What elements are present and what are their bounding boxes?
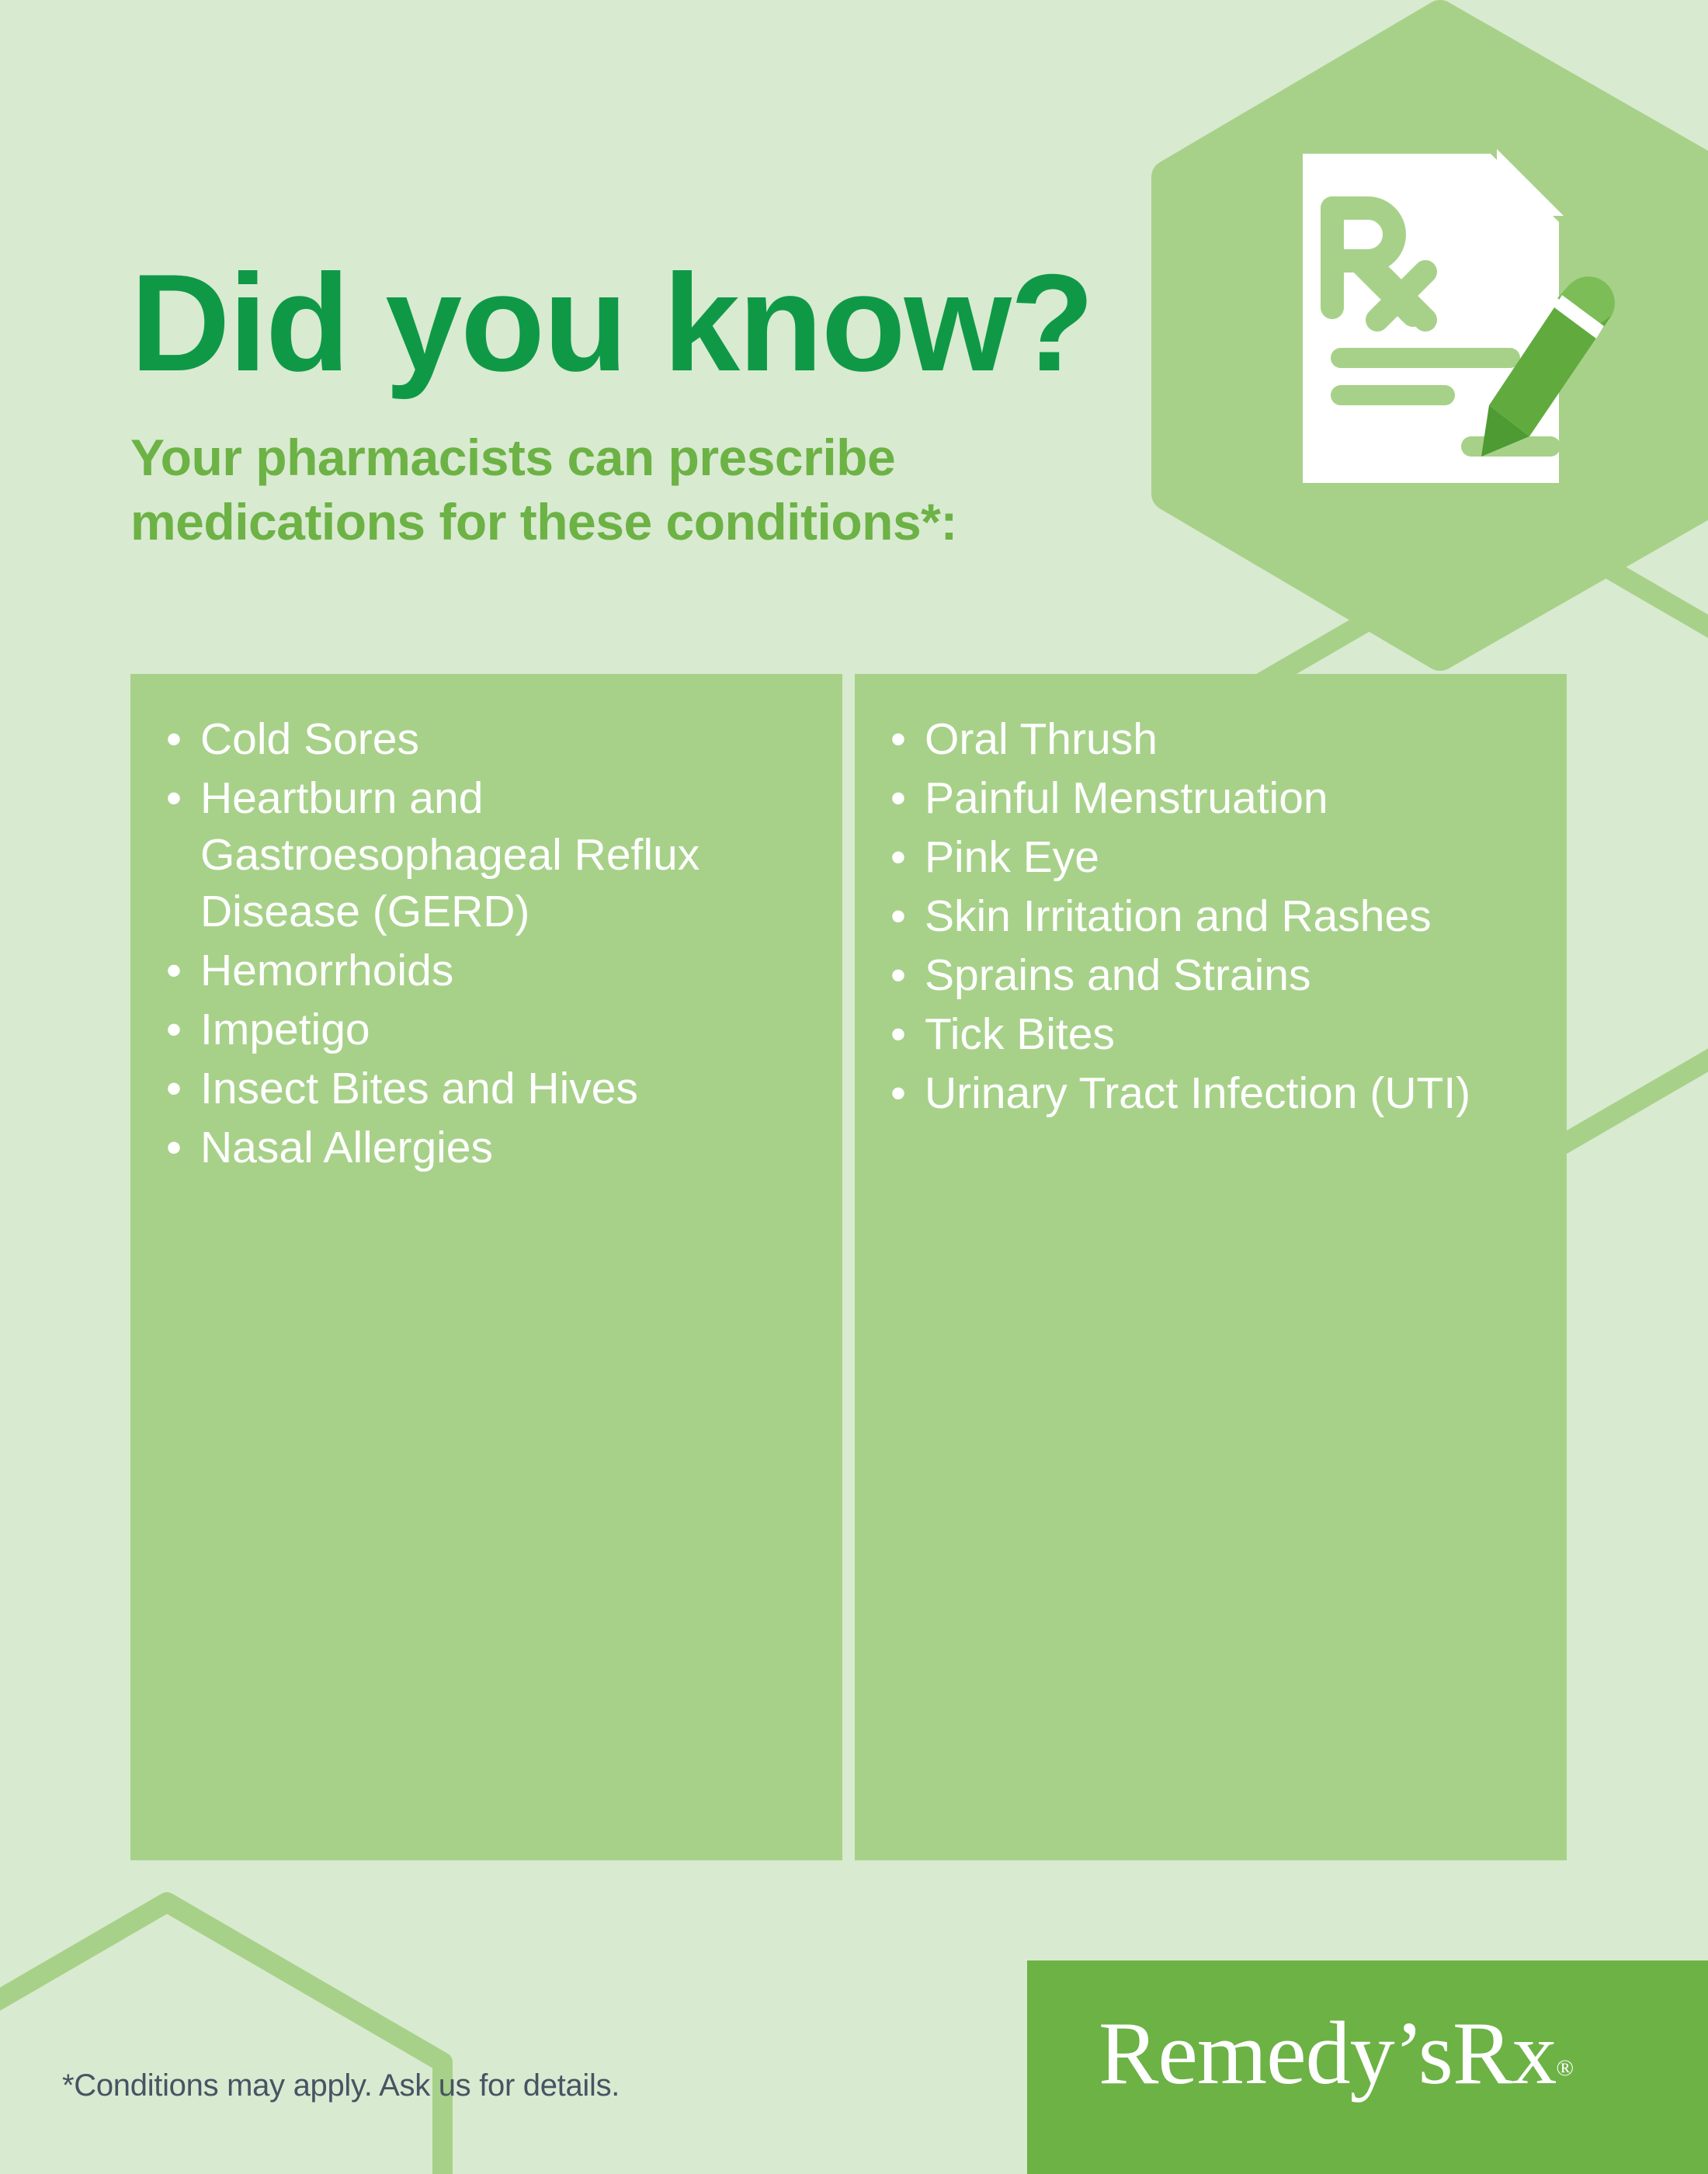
- subheading-line-1: Your pharmacists can prescribe: [130, 425, 1101, 490]
- list-item-label: Skin Irritation and Rashes: [925, 891, 1432, 941]
- bullet-glyph: •: [166, 1120, 207, 1176]
- list-item: • Skin Irritation and Rashes: [884, 888, 1543, 945]
- list-item: • Impetigo: [160, 1002, 819, 1058]
- list-item: • Nasal Allergies: [160, 1120, 819, 1176]
- brand-logo-block: Remedy’sRx®: [1027, 1960, 1708, 2174]
- document-folded-corner: [1497, 149, 1564, 216]
- list-item: • Pink Eye: [884, 829, 1543, 886]
- list-item: • Hemorrhoids: [160, 943, 819, 999]
- bullet-glyph: •: [890, 888, 931, 945]
- conditions-panels: • Cold Sores • Heartburn and Gastroesoph…: [130, 674, 1567, 1860]
- bullet-glyph: •: [166, 1061, 207, 1117]
- list-item: • Cold Sores: [160, 711, 819, 768]
- bullet-glyph: •: [890, 1006, 931, 1063]
- poster-canvas: Did you know? Your pharmacists can presc…: [0, 0, 1708, 2174]
- footnote-disclaimer: *Conditions may apply. Ask us for detail…: [62, 2067, 620, 2104]
- list-item-label: Cold Sores: [200, 714, 419, 764]
- document-line-2: [1331, 385, 1455, 405]
- brand-wordmark: Remedy’sRx®: [1099, 2009, 1574, 2099]
- brand-wordmark-text: Remedy’sRx: [1099, 2004, 1556, 2103]
- list-item-label: Sprains and Strains: [925, 950, 1311, 1000]
- list-item: • Tick Bites: [884, 1006, 1543, 1063]
- conditions-list-right: • Oral Thrush • Painful Menstruation • P…: [884, 711, 1543, 1122]
- list-item-label: Impetigo: [200, 1005, 370, 1054]
- document-line-1: [1331, 348, 1520, 368]
- list-item-label: Nasal Allergies: [200, 1123, 493, 1172]
- conditions-panel-right: • Oral Thrush • Painful Menstruation • P…: [855, 674, 1567, 1860]
- list-item-label: Urinary Tract Infection (UTI): [925, 1068, 1470, 1118]
- hexagon-outline-shape-bottom-left: [0, 1902, 443, 2174]
- subheading: Your pharmacists can prescribe medicatio…: [130, 425, 1101, 554]
- list-item: • Painful Menstruation: [884, 770, 1543, 827]
- list-item-label: Oral Thrush: [925, 714, 1158, 764]
- prescription-document-icon: [1297, 148, 1623, 489]
- list-item: • Urinary Tract Infection (UTI): [884, 1065, 1543, 1122]
- list-item-label: Tick Bites: [925, 1009, 1115, 1059]
- list-item-label: Painful Menstruation: [925, 773, 1328, 823]
- bullet-glyph: •: [890, 1065, 931, 1122]
- list-item-label: Hemorrhoids: [200, 946, 453, 995]
- subheading-line-2: medications for these conditions*:: [130, 490, 1101, 554]
- list-item-label: Pink Eye: [925, 832, 1099, 882]
- list-item: • Sprains and Strains: [884, 947, 1543, 1004]
- bullet-glyph: •: [166, 1002, 207, 1058]
- bullet-glyph: •: [890, 829, 931, 886]
- bullet-glyph: •: [890, 947, 931, 1004]
- list-item: • Oral Thrush: [884, 711, 1543, 768]
- bullet-glyph: •: [166, 943, 207, 999]
- bullet-glyph: •: [890, 711, 931, 768]
- bullet-glyph: •: [890, 770, 931, 827]
- bullet-glyph: •: [166, 770, 207, 827]
- list-item-label: Heartburn and Gastroesophageal Reflux Di…: [200, 773, 700, 936]
- conditions-panel-left: • Cold Sores • Heartburn and Gastroesoph…: [130, 674, 842, 1860]
- list-item: • Heartburn and Gastroesophageal Reflux …: [160, 770, 819, 940]
- conditions-list-left: • Cold Sores • Heartburn and Gastroesoph…: [160, 711, 819, 1176]
- bullet-glyph: •: [166, 711, 207, 768]
- list-item-label: Insect Bites and Hives: [200, 1064, 638, 1113]
- registered-trademark-symbol: ®: [1556, 2055, 1574, 2081]
- page-title: Did you know?: [130, 254, 1093, 392]
- list-item: • Insect Bites and Hives: [160, 1061, 819, 1117]
